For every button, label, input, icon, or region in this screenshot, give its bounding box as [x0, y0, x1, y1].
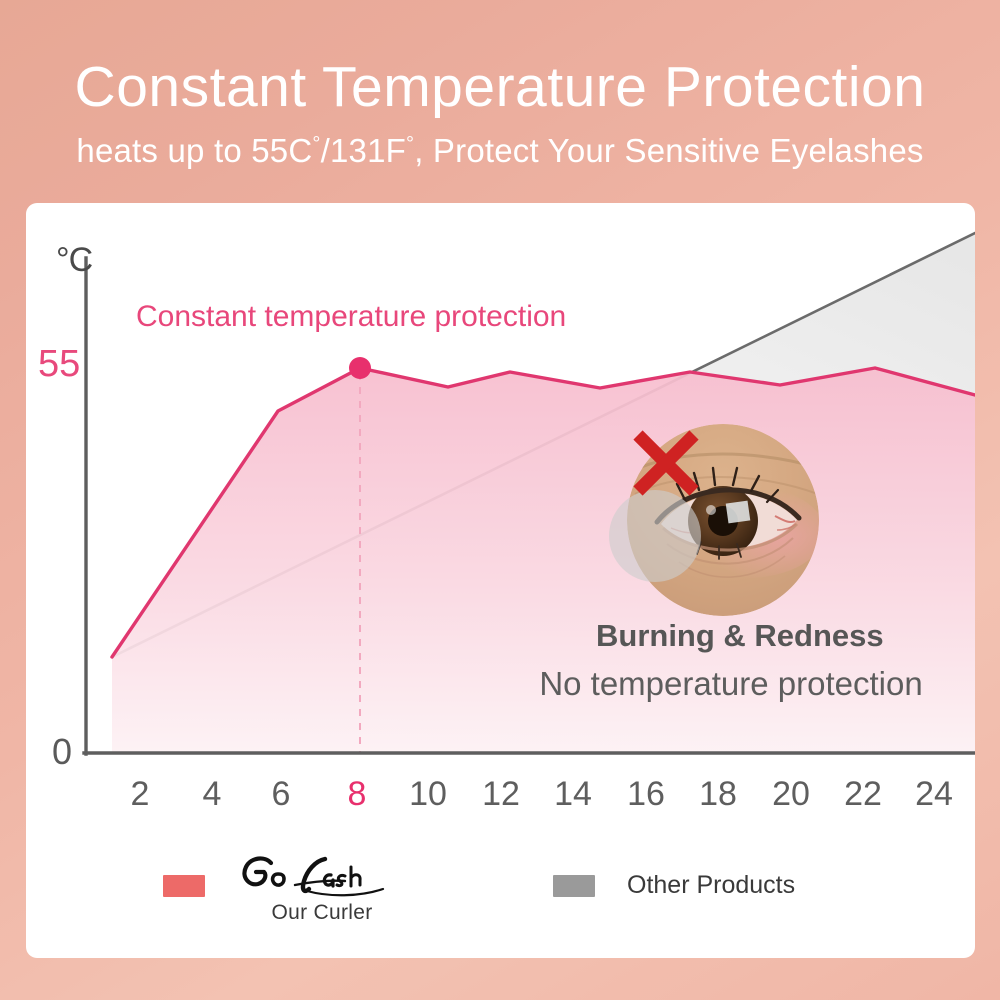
chart-legend: Our Curler Other Products — [26, 853, 975, 953]
legend-swatch-other-products — [553, 875, 595, 897]
subtitle-pre: heats up to 55C — [76, 132, 312, 169]
x-tick-label-16: 16 — [627, 775, 665, 814]
x-tick-label-6: 6 — [272, 775, 291, 814]
legend-item-other-products[interactable]: Other Products — [553, 853, 795, 900]
warning-subtitle: No temperature protection — [441, 665, 975, 703]
y-axis-unit-label: °C — [56, 241, 92, 280]
annotation-constant-protection: Constant temperature protection — [136, 300, 566, 334]
warning-title: Burning & Redness — [596, 618, 866, 654]
chart-plot-area: °C 55 0 Constant temperature protection … — [26, 203, 975, 958]
x-tick-label-24: 24 — [915, 775, 953, 814]
legend-label-other-products: Other Products — [627, 871, 795, 900]
x-tick-label-20: 20 — [772, 775, 810, 814]
legend-sublabel-our-curler: Our Curler — [237, 901, 407, 925]
peak-marker-point — [349, 357, 371, 379]
legend-item-our-curler[interactable]: Our Curler — [163, 853, 407, 925]
degree-symbol-c: ° — [312, 133, 320, 155]
irritated-eye-badge — [627, 424, 827, 624]
page-subtitle: heats up to 55C°/131F°, Protect Your Sen… — [0, 132, 1000, 170]
x-axis-tick-labels: 2 4 6 8 10 12 14 16 18 20 22 24 — [26, 775, 975, 825]
subtitle-mid: /131F — [321, 132, 406, 169]
x-tick-label-14: 14 — [554, 775, 592, 814]
legend-swatch-our-curler — [163, 875, 205, 897]
x-tick-label-12: 12 — [482, 775, 520, 814]
x-mark-disc — [609, 490, 701, 582]
chart-card: °C 55 0 Constant temperature protection … — [26, 203, 975, 958]
page-header: Constant Temperature Protection heats up… — [0, 0, 1000, 170]
x-tick-label-8: 8 — [348, 775, 367, 814]
x-tick-label-2: 2 — [131, 775, 150, 814]
degree-symbol-f: ° — [406, 133, 414, 155]
go-lash-logo-icon — [237, 853, 407, 899]
x-tick-label-10: 10 — [409, 775, 447, 814]
red-x-icon — [627, 424, 705, 502]
y-tick-label-55: 55 — [38, 343, 80, 386]
x-tick-label-4: 4 — [203, 775, 222, 814]
x-tick-label-18: 18 — [699, 775, 737, 814]
x-tick-label-22: 22 — [844, 775, 882, 814]
y-tick-label-0: 0 — [52, 731, 72, 773]
brand-block: Our Curler — [237, 853, 407, 925]
page-title: Constant Temperature Protection — [0, 58, 1000, 118]
subtitle-post: , Protect Your Sensitive Eyelashes — [414, 132, 923, 169]
